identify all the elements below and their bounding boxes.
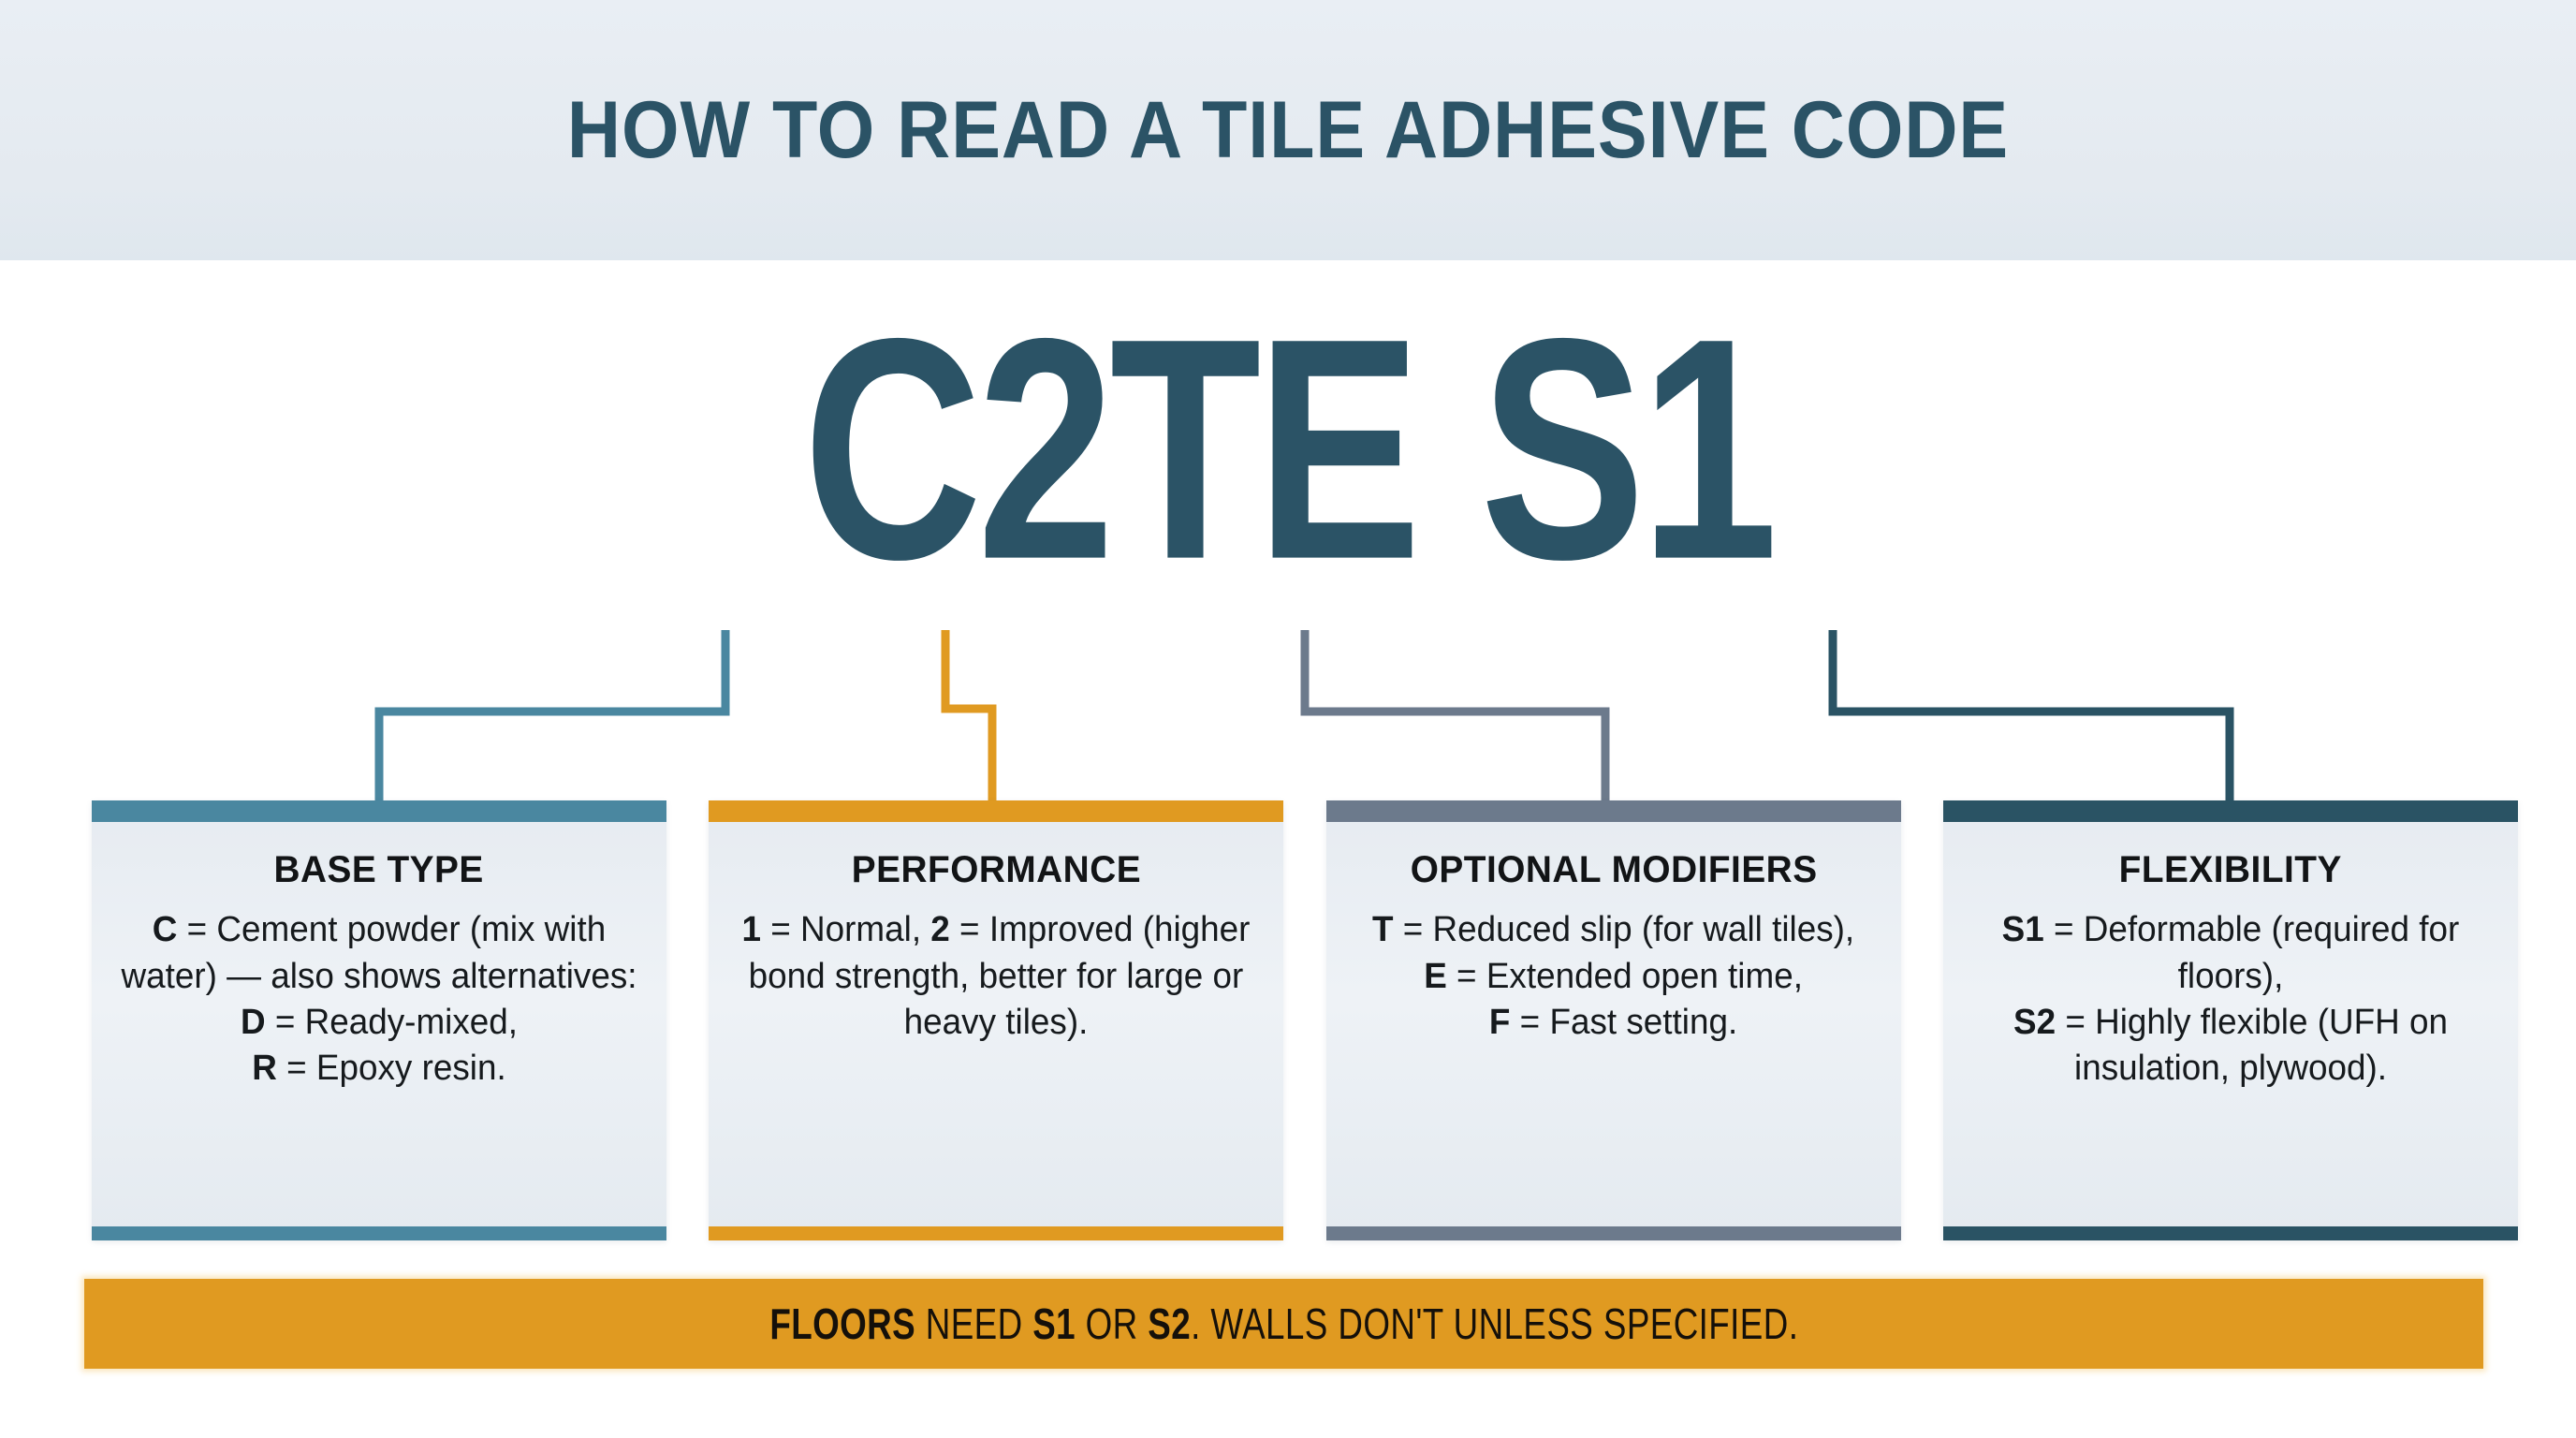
card-description: T = Reduced slip (for wall tiles),E = Ex…: [1372, 907, 1854, 1046]
card-base-type: BASE TYPE C = Cement powder (mix with wa…: [92, 800, 666, 1240]
connector-line-flexibility: [1833, 630, 2230, 800]
card-body: PERFORMANCE 1 = Normal, 2 = Improved (hi…: [709, 822, 1283, 1226]
card-accent-bar-bottom: [1943, 1226, 2518, 1240]
connector-line-base-type: [379, 630, 725, 800]
card-description: S1 = Deformable (required for floors),S2…: [1972, 907, 2490, 1093]
card-body: FLEXIBILITY S1 = Deformable (required fo…: [1943, 822, 2518, 1226]
cards-row: BASE TYPE C = Cement powder (mix with wa…: [92, 800, 2518, 1240]
card-accent-bar-top: [92, 800, 666, 822]
card-accent-bar-top: [1943, 800, 2518, 822]
card-body: OPTIONAL MODIFIERS T = Reduced slip (for…: [1326, 822, 1901, 1226]
card-accent-bar-bottom: [92, 1226, 666, 1240]
card-optional-modifiers: OPTIONAL MODIFIERS T = Reduced slip (for…: [1326, 800, 1901, 1240]
card-description: C = Cement powder (mix with water) — als…: [121, 907, 638, 1093]
bottom-banner: FLOORS NEED S1 OR S2. WALLS DON'T UNLESS…: [84, 1279, 2483, 1369]
page-title: HOW TO READ A TILE ADHESIVE CODE: [103, 0, 2473, 260]
card-title: PERFORMANCE: [852, 848, 1141, 892]
card-description: 1 = Normal, 2 = Improved (higher bond st…: [738, 907, 1255, 1046]
bottom-banner-text: FLOORS NEED S1 OR S2. WALLS DON'T UNLESS…: [769, 1299, 1798, 1349]
card-title: OPTIONAL MODIFIERS: [1410, 848, 1817, 892]
card-accent-bar-bottom: [1326, 1226, 1901, 1240]
adhesive-code-display: C2TE S1: [90, 251, 2485, 649]
card-accent-bar-top: [1326, 800, 1901, 822]
header-band: HOW TO READ A TILE ADHESIVE CODE: [0, 0, 2576, 260]
card-accent-bar-top: [709, 800, 1283, 822]
connector-line-optional-modifiers: [1305, 630, 1605, 800]
card-title: BASE TYPE: [274, 848, 484, 892]
connector-line-performance: [945, 630, 992, 800]
card-performance: PERFORMANCE 1 = Normal, 2 = Improved (hi…: [709, 800, 1283, 1240]
card-title: FLEXIBILITY: [2119, 848, 2342, 892]
card-body: BASE TYPE C = Cement powder (mix with wa…: [92, 822, 666, 1226]
card-accent-bar-bottom: [709, 1226, 1283, 1240]
card-flexibility: FLEXIBILITY S1 = Deformable (required fo…: [1943, 800, 2518, 1240]
